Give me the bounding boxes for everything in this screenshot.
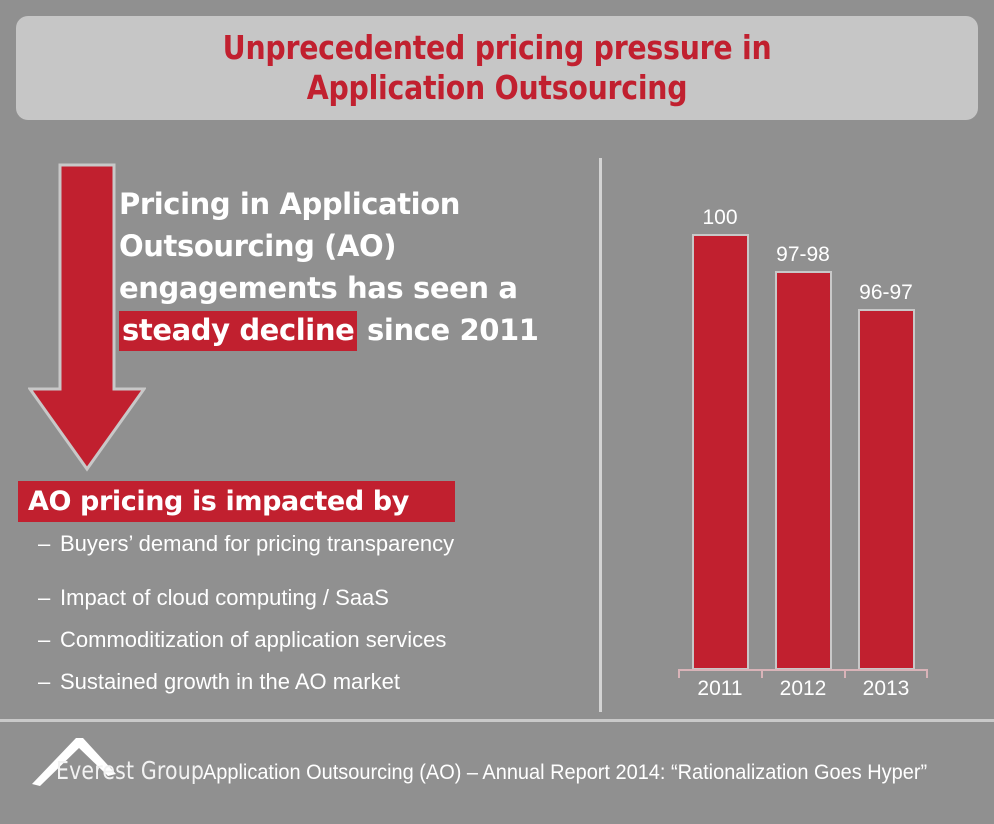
slide-canvas: Unprecedented pricing pressure in Applic… xyxy=(0,0,994,824)
page-title: Unprecedented pricing pressure in Applic… xyxy=(223,28,772,108)
bullet-dash-icon: – xyxy=(38,583,60,613)
list-item: – Impact of cloud computing / SaaS xyxy=(38,583,568,613)
x-axis-label-2013: 2013 xyxy=(844,676,928,702)
list-item-label: Impact of cloud computing / SaaS xyxy=(60,583,389,613)
list-item-label: Buyers’ demand for pricing transparency xyxy=(60,529,454,559)
bullet-dash-icon: – xyxy=(38,667,60,697)
headline-highlight: steady decline xyxy=(119,311,357,351)
list-item: – Buyers’ demand for pricing transparenc… xyxy=(38,529,568,559)
column-divider xyxy=(599,158,602,712)
headline-text: Pricing in Application Outsourcing (AO) … xyxy=(119,183,589,351)
bar-value-label-2012: 97-98 xyxy=(761,243,845,267)
bar-value-label-2011: 100 xyxy=(678,206,762,230)
list-item-label: Sustained growth in the AO market xyxy=(60,667,400,697)
footer-divider xyxy=(0,719,994,722)
headline-part-2: since 2011 xyxy=(357,313,538,347)
impact-banner: AO pricing is impacted by xyxy=(18,481,455,522)
bullet-dash-icon: – xyxy=(38,625,60,655)
bar-value-label-2013: 96-97 xyxy=(844,281,928,305)
headline-part-1: Pricing in Application Outsourcing (AO) … xyxy=(119,187,518,305)
title-banner: Unprecedented pricing pressure in Applic… xyxy=(16,16,978,120)
bar-2013 xyxy=(858,309,915,670)
footer-caption: Application Outsourcing (AO) – Annual Re… xyxy=(203,760,927,786)
list-item: – Sustained growth in the AO market xyxy=(38,667,568,697)
list-item: – Commoditization of application service… xyxy=(38,625,568,655)
x-axis-label-2011: 2011 xyxy=(678,676,762,702)
bar-2011 xyxy=(692,234,749,670)
x-axis-line xyxy=(678,669,928,671)
x-axis-label-2012: 2012 xyxy=(761,676,845,702)
bar-2012 xyxy=(775,271,832,670)
everest-group-wordmark: Everest Group xyxy=(56,757,204,785)
impact-banner-label: AO pricing is impacted by xyxy=(28,487,409,517)
impact-bullet-list: – Buyers’ demand for pricing transparenc… xyxy=(38,529,568,706)
bullet-dash-icon: – xyxy=(38,529,60,559)
list-item-label: Commoditization of application services xyxy=(60,625,446,655)
